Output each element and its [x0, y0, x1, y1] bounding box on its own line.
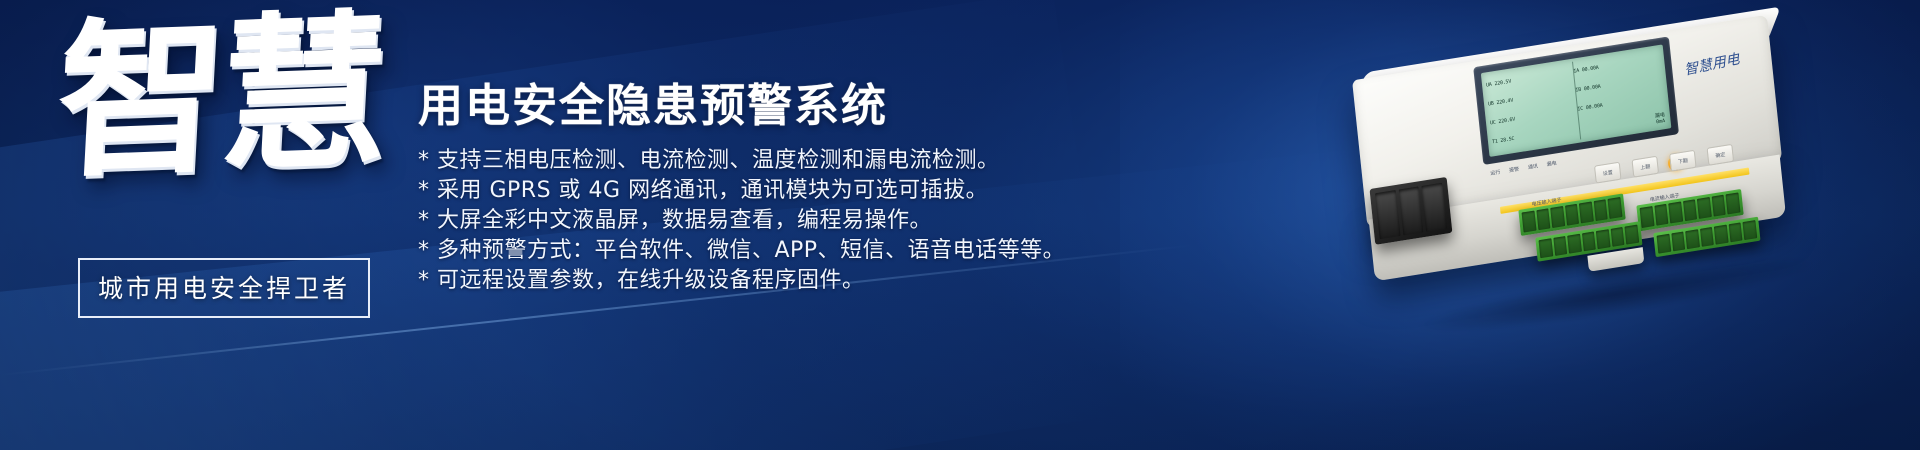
- device-illustration: UA 220.5V IA 00.00A UB 220.4V IB 00.00A …: [1320, 0, 1865, 356]
- list-item: * 采用 GPRS 或 4G 网络通讯，通讯模块为可选可插拔。: [418, 176, 1138, 206]
- terminal-pin: [1685, 229, 1699, 249]
- terminal-pin: [1608, 197, 1623, 219]
- tagline-badge: 城市用电安全捍卫者: [78, 258, 370, 318]
- terminal-pin: [1582, 231, 1596, 251]
- terminal-pin: [1625, 225, 1639, 245]
- terminal-pin: [1565, 204, 1580, 226]
- terminal-pin: [1671, 232, 1685, 252]
- terminal-pin: [1668, 202, 1683, 224]
- terminal-pin: [1654, 204, 1669, 226]
- terminal-pin: [1594, 199, 1609, 221]
- page-title: 用电安全隐患预警系统: [418, 82, 1138, 129]
- terminal-pin: [1726, 192, 1741, 214]
- terminal-pin: [1640, 206, 1655, 228]
- calligraphy-text: 智慧: [53, 6, 413, 186]
- terminal-pin: [1611, 227, 1625, 247]
- list-item: * 可远程设置参数，在线升级设备程序固件。: [418, 266, 1138, 296]
- terminal-pin: [1579, 201, 1594, 223]
- terminal-pin: [1714, 225, 1728, 245]
- calligraphy-block: 智慧: [62, 18, 412, 258]
- list-item: * 大屏全彩中文液晶屏，数据易查看，编程易操作。: [418, 206, 1138, 236]
- promo-banner: 智慧 城市用电安全捍卫者 用电安全隐患预警系统 * 支持三相电压检测、电流检测、…: [0, 0, 1920, 450]
- connector-pin: [1375, 190, 1400, 239]
- terminal-pin: [1567, 234, 1581, 254]
- terminal-pin: [1539, 238, 1553, 258]
- terminal-pin: [1700, 227, 1714, 247]
- terminal-pin: [1657, 234, 1671, 254]
- terminal-pin: [1712, 195, 1727, 217]
- list-item: * 多种预警方式：平台软件、微信、APP、短信、语音电话等等。: [418, 236, 1138, 266]
- terminal-pin: [1553, 236, 1567, 256]
- terminal-pin: [1729, 222, 1743, 242]
- list-item: * 支持三相电压检测、电流检测、温度检测和漏电流检测。: [418, 146, 1138, 176]
- feature-list: * 支持三相电压检测、电流检测、温度检测和漏电流检测。 * 采用 GPRS 或 …: [418, 146, 1138, 296]
- product-image: UA 220.5V IA 00.00A UB 220.4V IB 00.00A …: [1332, 16, 1892, 346]
- connector-pin: [1422, 183, 1447, 232]
- terminal-pin: [1536, 208, 1551, 230]
- terminal-pin: [1743, 220, 1757, 240]
- terminal-pin: [1596, 229, 1610, 249]
- terminal-pin: [1522, 211, 1537, 233]
- lcd-readout-grid: UA 220.5V IA 00.00A UB 220.4V IB 00.00A …: [1485, 49, 1667, 152]
- connector-pin: [1398, 186, 1423, 235]
- terminal-pin: [1697, 197, 1712, 219]
- terminal-pin: [1683, 199, 1698, 221]
- copy-column: 用电安全隐患预警系统 * 支持三相电压检测、电流检测、温度检测和漏电流检测。 *…: [418, 82, 1138, 296]
- terminal-pin: [1550, 206, 1565, 228]
- lcd-leakage-note: 漏电 0mA: [1655, 111, 1666, 125]
